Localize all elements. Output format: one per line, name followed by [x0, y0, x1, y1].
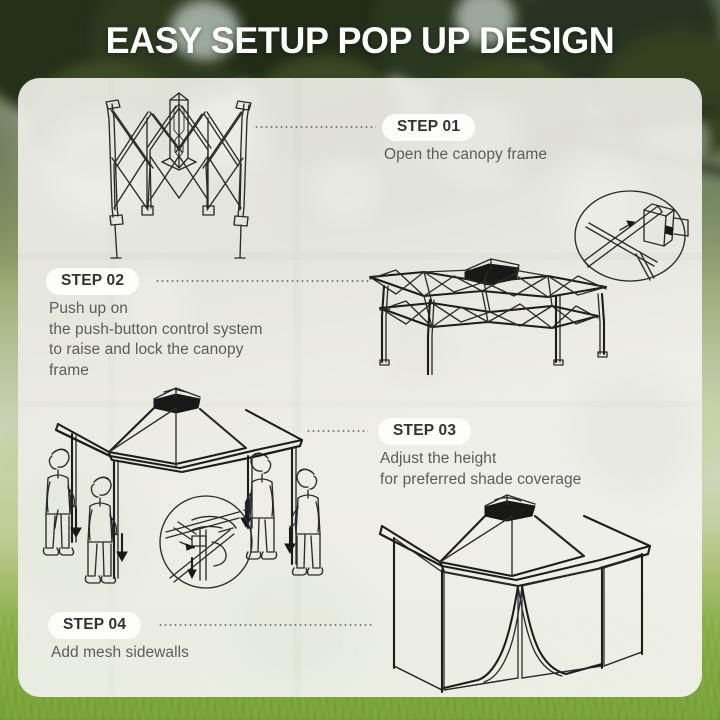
step-02-badge: STEP 02 — [46, 268, 139, 295]
step-04: STEP 04 Add mesh sidewalls — [22, 612, 422, 664]
step-03-badge: STEP 03 — [378, 418, 471, 445]
step-02-dotted-connector — [155, 280, 370, 282]
step-04-dotted-connector — [158, 624, 372, 626]
step-04-badge: STEP 04 — [48, 612, 141, 639]
illustration-gazebo-with-people — [14, 382, 350, 602]
illustration-push-button-detail — [562, 182, 698, 290]
step-01-description: Open the canopy frame — [382, 145, 547, 166]
step-01-dotted-connector — [254, 126, 376, 128]
step-04-description: Add mesh sidewalls — [22, 643, 422, 664]
step-03-description: Adjust the height for preferred shade co… — [378, 449, 581, 490]
illustration-folded-frame — [84, 88, 274, 268]
infographic-stage: EASY SETUP POP UP DESIGN — [0, 0, 720, 720]
step-01-badge: STEP 01 — [382, 114, 475, 141]
illustration-gazebo-mesh-sidewalls — [372, 492, 702, 700]
page-title: EASY SETUP POP UP DESIGN — [11, 19, 709, 63]
